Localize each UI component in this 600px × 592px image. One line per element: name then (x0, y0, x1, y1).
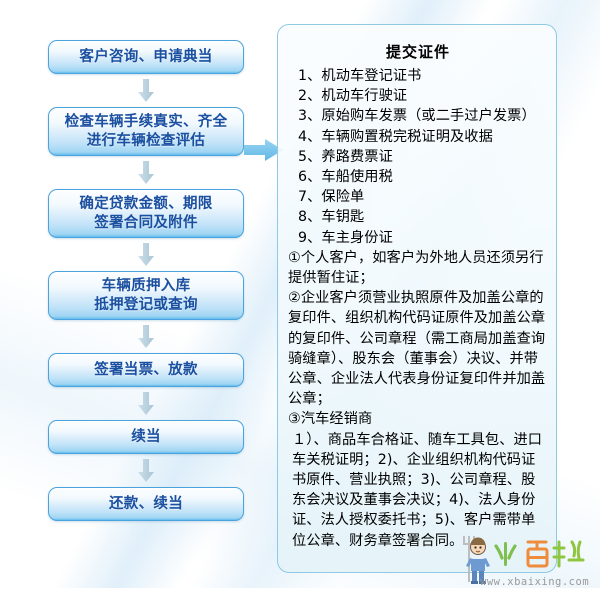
list-item: 5、养路费票证 (298, 147, 548, 167)
docs-note-enterprise: ②企业客户须营业执照原件及加盖公章的复印件、组织机构代码证原件及加盖公章的复印件… (288, 288, 548, 409)
docs-note-dealer-details: １）、商品车合格证、随车工具包、进口车关税证明；2)、企业组织机构代码证书原件、… (288, 430, 548, 551)
list-item: 7、保险单 (298, 187, 548, 207)
flow-node-label: 抵押登记或查询 (94, 296, 198, 315)
flow-node-renew-pawn[interactable]: 续当 (48, 420, 244, 454)
flow-node-loan-terms[interactable]: 确定贷款金额、期限 签署合同及附件 (48, 189, 244, 238)
flow-node-label: 签署合同及附件 (79, 214, 212, 233)
arrow-down-icon (133, 324, 159, 350)
list-item: 8、车钥匙 (298, 207, 548, 227)
required-documents-panel: 提交证件 1、机动车登记证书 2、机动车行驶证 3、原始购车发票（或二手过户发票… (277, 24, 557, 573)
flow-node-label: 还款、续当 (109, 495, 183, 514)
list-item: 2、机动车行驶证 (298, 86, 548, 106)
flow-node-label: 检查车辆手续真实、齐全 (65, 113, 228, 132)
list-item: 9、车主身份证 (298, 228, 548, 248)
arrow-down-icon (133, 458, 159, 484)
flow-arrow-4 (48, 320, 244, 353)
flowchart-stage: 客户咨询、申请典当 检查车辆手续真实、齐全 进行车辆检查评估 确定贷款金 (0, 0, 600, 588)
list-item: 1、机动车登记证书 (298, 66, 548, 86)
docs-panel-body: 1、机动车登记证书 2、机动车行驶证 3、原始购车发票（或二手过户发票） 4、车… (288, 66, 548, 551)
flow-node-label: 客户咨询、申请典当 (79, 48, 212, 67)
arrow-down-icon (133, 391, 159, 417)
flow-node-label: 续当 (131, 428, 161, 447)
flow-node-label: 签署当票、放款 (94, 361, 198, 380)
flow-node-vehicle-check[interactable]: 检查车辆手续真实、齐全 进行车辆检查评估 (48, 107, 244, 156)
flow-node-repay-renew[interactable]: 还款、续当 (48, 487, 244, 521)
flow-arrow-5 (48, 387, 244, 420)
flow-node-label: 车辆质押入库 (94, 277, 198, 296)
docs-note-individual: ①个人客户，如客户为外地人员还须另行提供暂住证； (288, 248, 548, 288)
flow-node-label: 进行车辆检查评估 (65, 132, 228, 151)
flow-arrow-2 (48, 156, 244, 189)
arrow-down-icon (133, 160, 159, 186)
list-item: 3、原始购车发票（或二手过户发票） (298, 106, 548, 126)
flow-arrow-1 (48, 74, 244, 107)
flow-node-customer-inquiry[interactable]: 客户咨询、申请典当 (48, 40, 244, 74)
flow-node-sign-ticket-disburse[interactable]: 签署当票、放款 (48, 353, 244, 387)
docs-panel-title: 提交证件 (288, 41, 548, 62)
flow-node-label: 确定贷款金额、期限 (79, 195, 212, 214)
list-item: 4、车辆购置税完税证明及收据 (298, 127, 548, 147)
docs-numbered-list: 1、机动车登记证书 2、机动车行驶证 3、原始购车发票（或二手过户发票） 4、车… (288, 66, 548, 248)
process-flow-column: 客户咨询、申请典当 检查车辆手续真实、齐全 进行车辆检查评估 确定贷款金 (48, 40, 244, 521)
arrow-down-icon (133, 78, 159, 104)
flow-arrow-6 (48, 454, 244, 487)
list-item: 6、车船使用税 (298, 167, 548, 187)
flow-node-pledge-storage[interactable]: 车辆质押入库 抵押登记或查询 (48, 271, 244, 320)
arrow-down-icon (133, 242, 159, 268)
watermark-url: www.xbaixing.com (480, 576, 589, 588)
flow-arrow-3 (48, 238, 244, 271)
docs-note-dealer-heading: ③汽车经销商 (288, 409, 548, 429)
